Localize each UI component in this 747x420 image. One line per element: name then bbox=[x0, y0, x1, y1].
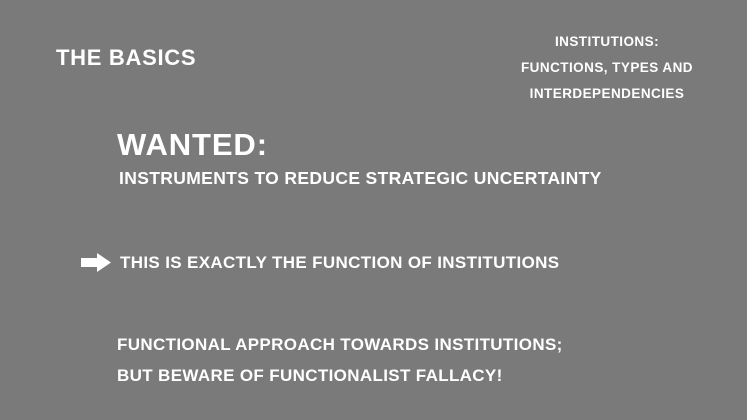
arrow-bullet-label: THIS IS EXACTLY THE FUNCTION OF INSTITUT… bbox=[120, 252, 559, 273]
closing-line-1: FUNCTIONAL APPROACH TOWARDS INSTITUTIONS… bbox=[117, 329, 563, 360]
arrow-bullet-row: THIS IS EXACTLY THE FUNCTION OF INSTITUT… bbox=[81, 252, 559, 273]
wanted-subtitle: INSTRUMENTS TO REDUCE STRATEGIC UNCERTAI… bbox=[119, 167, 602, 189]
section-label: THE BASICS bbox=[56, 45, 196, 71]
right-arrow-icon bbox=[81, 253, 111, 272]
wanted-block: WANTED: INSTRUMENTS TO REDUCE STRATEGIC … bbox=[117, 126, 602, 189]
deck-title-block: INSTITUTIONS: FUNCTIONS, TYPES AND INTER… bbox=[457, 29, 747, 107]
deck-title-line-2: FUNCTIONS, TYPES AND bbox=[457, 55, 747, 81]
presentation-slide: THE BASICS INSTITUTIONS: FUNCTIONS, TYPE… bbox=[0, 0, 747, 420]
closing-line-2: BUT BEWARE OF FUNCTIONALIST FALLACY! bbox=[117, 360, 563, 391]
wanted-heading: WANTED: bbox=[117, 126, 602, 164]
closing-block: FUNCTIONAL APPROACH TOWARDS INSTITUTIONS… bbox=[117, 329, 563, 391]
deck-title-line-3: INTERDEPENDENCIES bbox=[457, 81, 747, 107]
deck-title-line-1: INSTITUTIONS: bbox=[457, 29, 747, 55]
